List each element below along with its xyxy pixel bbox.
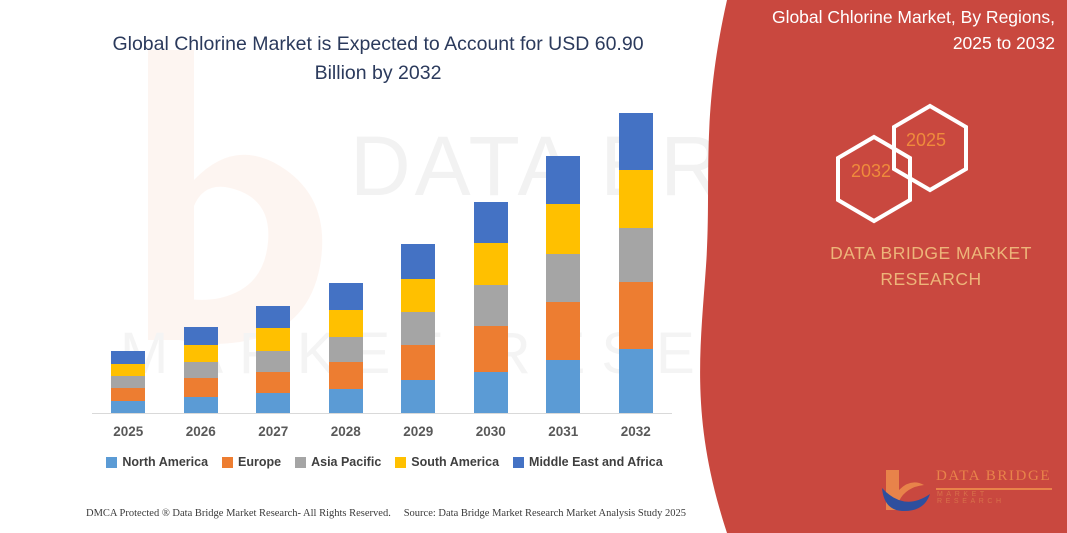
chart-bar-segment bbox=[474, 326, 508, 371]
chart-x-label: 2032 bbox=[601, 424, 671, 439]
chart-bar-segment bbox=[184, 378, 218, 396]
chart-x-label: 2030 bbox=[456, 424, 526, 439]
chart-bar-segment bbox=[619, 282, 653, 349]
footer-copyright: DMCA Protected ® Data Bridge Market Rese… bbox=[86, 508, 391, 519]
chart-bar bbox=[619, 113, 653, 414]
infographic-root: DATA BRIDGE MARKET RESEARCH Global Chlor… bbox=[0, 0, 1067, 533]
chart-bar-segment bbox=[111, 351, 145, 364]
footer-source: Source: Data Bridge Market Research Mark… bbox=[404, 508, 686, 519]
legend-swatch bbox=[513, 457, 524, 468]
chart-bar-segment bbox=[474, 372, 508, 414]
chart-x-label: 2027 bbox=[238, 424, 308, 439]
chart-bar-segment bbox=[619, 228, 653, 282]
chart-bar-segment bbox=[329, 389, 363, 414]
chart-bar-segment bbox=[329, 362, 363, 389]
chart-bar-segment bbox=[401, 312, 435, 344]
chart-bar-segment bbox=[546, 254, 580, 303]
b-logo-icon bbox=[880, 468, 932, 512]
chart-bar-segment bbox=[329, 283, 363, 310]
chart-bar bbox=[401, 244, 435, 414]
chart-bar-segment bbox=[401, 279, 435, 313]
hex-badge-2025-label: 2025 bbox=[906, 130, 946, 151]
legend-swatch bbox=[106, 457, 117, 468]
chart-bar-segment bbox=[256, 328, 290, 351]
chart-bar-segment bbox=[184, 327, 218, 344]
chart-bar-segment bbox=[619, 113, 653, 170]
chart-bar-segment bbox=[546, 204, 580, 254]
chart-bar-segment bbox=[401, 345, 435, 381]
chart-x-label: 2026 bbox=[166, 424, 236, 439]
chart-x-label: 2029 bbox=[383, 424, 453, 439]
chart-bar bbox=[329, 283, 363, 414]
data-bridge-logo: DATA BRIDGE MARKET RESEARCH bbox=[880, 468, 1055, 514]
legend-swatch bbox=[295, 457, 306, 468]
chart-legend: North AmericaEuropeAsia PacificSouth Ame… bbox=[92, 455, 677, 469]
chart-bar bbox=[474, 202, 508, 414]
legend-label: South America bbox=[411, 455, 499, 469]
chart-x-label: 2031 bbox=[528, 424, 598, 439]
chart-bar-segment bbox=[546, 360, 580, 414]
chart-bar-segment bbox=[474, 243, 508, 285]
chart-bar-segment bbox=[184, 397, 218, 414]
chart-bar-segment bbox=[546, 302, 580, 359]
chart-x-axis-labels: 20252026202720282029203020312032 bbox=[92, 424, 672, 446]
legend-label: Europe bbox=[238, 455, 281, 469]
panel-brand-text: DATA BRIDGE MARKET RESEARCH bbox=[800, 240, 1062, 292]
chart-bar bbox=[546, 156, 580, 414]
chart-bar-segment bbox=[256, 372, 290, 394]
chart-bar-segment bbox=[111, 364, 145, 376]
chart-plot-area bbox=[92, 100, 672, 414]
chart-bar-segment bbox=[256, 306, 290, 329]
chart-bar bbox=[111, 351, 145, 414]
chart-bar-segment bbox=[401, 380, 435, 414]
chart-x-label: 2028 bbox=[311, 424, 381, 439]
legend-swatch bbox=[222, 457, 233, 468]
chart-x-label: 2025 bbox=[93, 424, 163, 439]
chart-bar-segment bbox=[619, 349, 653, 414]
legend-label: North America bbox=[122, 455, 208, 469]
legend-swatch bbox=[395, 457, 406, 468]
logo-divider bbox=[936, 488, 1052, 490]
chart-bar bbox=[184, 327, 218, 414]
legend-label: Asia Pacific bbox=[311, 455, 381, 469]
chart-bar-segment bbox=[329, 337, 363, 362]
hex-badge-2032-label: 2032 bbox=[851, 161, 891, 182]
chart-bar-segment bbox=[184, 345, 218, 362]
logo-subtitle: MARKET RESEARCH bbox=[937, 491, 1055, 505]
legend-item[interactable]: South America bbox=[395, 455, 499, 469]
chart-bar-segment bbox=[546, 156, 580, 204]
legend-item[interactable]: Asia Pacific bbox=[295, 455, 381, 469]
chart-bar-segment bbox=[111, 376, 145, 388]
chart-bar-segment bbox=[256, 351, 290, 372]
legend-item[interactable]: Middle East and Africa bbox=[513, 455, 663, 469]
chart-bar-segment bbox=[329, 310, 363, 337]
chart-bar-segment bbox=[111, 388, 145, 401]
chart-bar-segment bbox=[256, 393, 290, 414]
legend-item[interactable]: Europe bbox=[222, 455, 281, 469]
chart-bar-segment bbox=[474, 202, 508, 243]
chart-bar bbox=[256, 306, 290, 414]
chart-bar-segment bbox=[474, 285, 508, 326]
chart-title: Global Chlorine Market is Expected to Ac… bbox=[108, 30, 648, 88]
chart-bar-segment bbox=[184, 362, 218, 378]
chart-bar-segment bbox=[619, 170, 653, 227]
legend-item[interactable]: North America bbox=[106, 455, 208, 469]
chart-bar-segment bbox=[401, 244, 435, 279]
logo-name: DATA BRIDGE bbox=[936, 468, 1051, 485]
footer: DMCA Protected ® Data Bridge Market Rese… bbox=[86, 508, 686, 519]
chart-baseline bbox=[92, 413, 672, 414]
legend-label: Middle East and Africa bbox=[529, 455, 663, 469]
panel-title: Global Chlorine Market, By Regions, 2025… bbox=[745, 4, 1055, 56]
